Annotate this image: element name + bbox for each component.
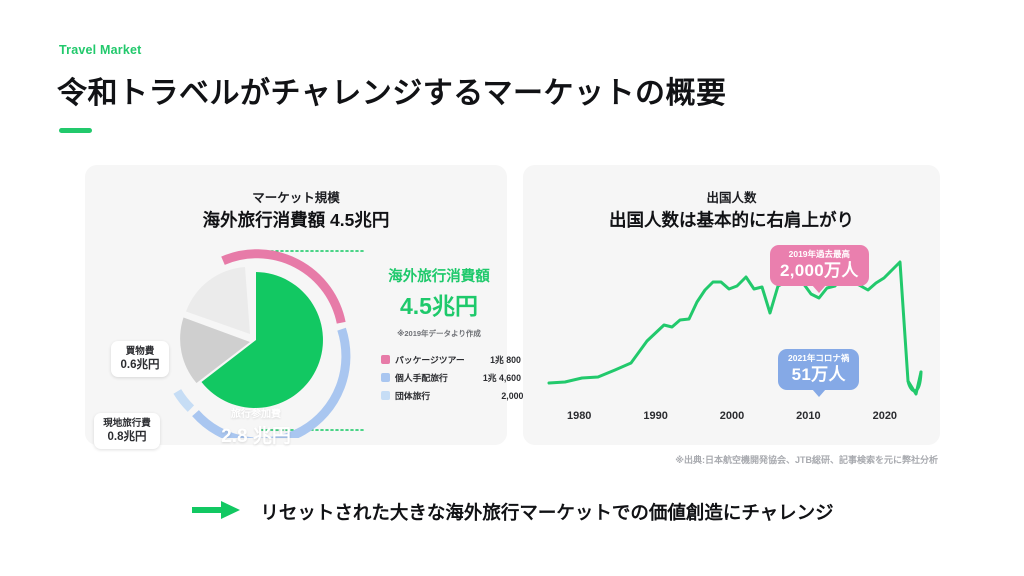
- source-note: ※出典:日本航空機開発協会、JTB総研、記事検索を元に弊社分析: [523, 453, 940, 466]
- legend-label-individual-travel: 個人手配旅行: [395, 371, 467, 384]
- slide-root: Travel Market 令和トラベルがチャレンジするマーケットの概要 マーケ…: [0, 0, 1024, 576]
- axis-tick-1990: 1990: [617, 410, 693, 422]
- legend-swatch-individual-travel: [381, 373, 390, 382]
- market-size-card: マーケット規模 海外旅行消費額 4.5兆円: [85, 165, 507, 445]
- legend-swatch-group-travel: [381, 391, 390, 400]
- pie-label-participation-fee: 旅行参加費 2.8 兆円: [201, 405, 311, 448]
- callout-covid-label: 2021年コロナ禍: [788, 354, 849, 364]
- callout-peak-value: 2,000万人: [780, 261, 859, 281]
- right-card-headline: 出国人数は基本的に右肩上がり: [523, 207, 940, 232]
- axis-tick-2000: 2000: [694, 410, 770, 422]
- legend-swatch-package-tour: [381, 355, 390, 364]
- legend-item-group-travel: 団体旅行 2,000億円: [381, 389, 541, 402]
- donut-chart: 買物費 0.6兆円 現地旅行費 0.8兆円 旅行参加費 2.8 兆円: [93, 243, 373, 438]
- callout-peak-tail: [812, 285, 826, 293]
- pie-label-local-travel-name: 現地旅行費: [102, 418, 152, 430]
- axis-tick-1980: 1980: [541, 410, 617, 422]
- legend-label-group-travel: 団体旅行: [395, 389, 467, 402]
- callout-covid-tail: [812, 389, 826, 397]
- legend-label-package-tour: パッケージツアー: [395, 353, 467, 366]
- pie-label-shopping-name: 買物費: [119, 346, 161, 358]
- pie-label-local-travel: 現地旅行費 0.8兆円: [94, 413, 160, 449]
- pie-label-shopping: 買物費 0.6兆円: [111, 341, 169, 377]
- right-card-kicker: 出国人数: [523, 187, 940, 206]
- departures-x-axis: 1980 1990 2000 2010 2020: [541, 410, 923, 422]
- donut-summary-note: ※2019年データより作成: [373, 328, 505, 339]
- callout-covid-2021: 2021年コロナ禍 51万人: [778, 349, 859, 390]
- arrow-right-icon: [190, 499, 242, 526]
- departures-card: 出国人数 出国人数は基本的に右肩上がり 1980 1990 2000 2010 …: [523, 165, 940, 445]
- pie-label-shopping-value: 0.6兆円: [119, 358, 161, 372]
- footer-conclusion: リセットされた大きな海外旅行マーケットでの価値創造にチャレンジ: [0, 492, 1024, 532]
- title-underline-rule: [59, 128, 92, 133]
- donut-summary-title: 海外旅行消費額: [373, 265, 505, 286]
- footer-text: リセットされた大きな海外旅行マーケットでの価値創造にチャレンジ: [260, 499, 833, 525]
- axis-tick-2020: 2020: [847, 410, 923, 422]
- legend-item-package-tour: パッケージツアー 1兆 800 億円: [381, 353, 541, 366]
- donut-summary: 海外旅行消費額 4.5兆円 ※2019年データより作成: [373, 265, 505, 339]
- legend-item-individual-travel: 個人手配旅行 1兆 4,600 億円: [381, 371, 541, 384]
- donut-summary-value: 4.5兆円: [373, 287, 505, 321]
- pie-label-participation-fee-name: 旅行参加費: [201, 405, 311, 420]
- page-title: 令和トラベルがチャレンジするマーケットの概要: [57, 68, 727, 112]
- left-card-headline: 海外旅行消費額 4.5兆円: [85, 207, 507, 232]
- pie-label-local-travel-value: 0.8兆円: [102, 430, 152, 444]
- left-card-kicker: マーケット規模: [85, 187, 507, 206]
- donut-legend: パッケージツアー 1兆 800 億円 個人手配旅行 1兆 4,600 億円 団体…: [381, 353, 541, 407]
- callout-covid-value: 51万人: [788, 365, 849, 385]
- ring-arc-group-travel: [177, 391, 191, 408]
- callout-peak-2019: 2019年過去最高 2,000万人: [770, 245, 869, 286]
- callout-peak-label: 2019年過去最高: [780, 250, 859, 260]
- eyebrow-label: Travel Market: [59, 43, 142, 57]
- pie-label-participation-fee-value: 2.8 兆円: [201, 421, 311, 448]
- axis-tick-2010: 2010: [770, 410, 846, 422]
